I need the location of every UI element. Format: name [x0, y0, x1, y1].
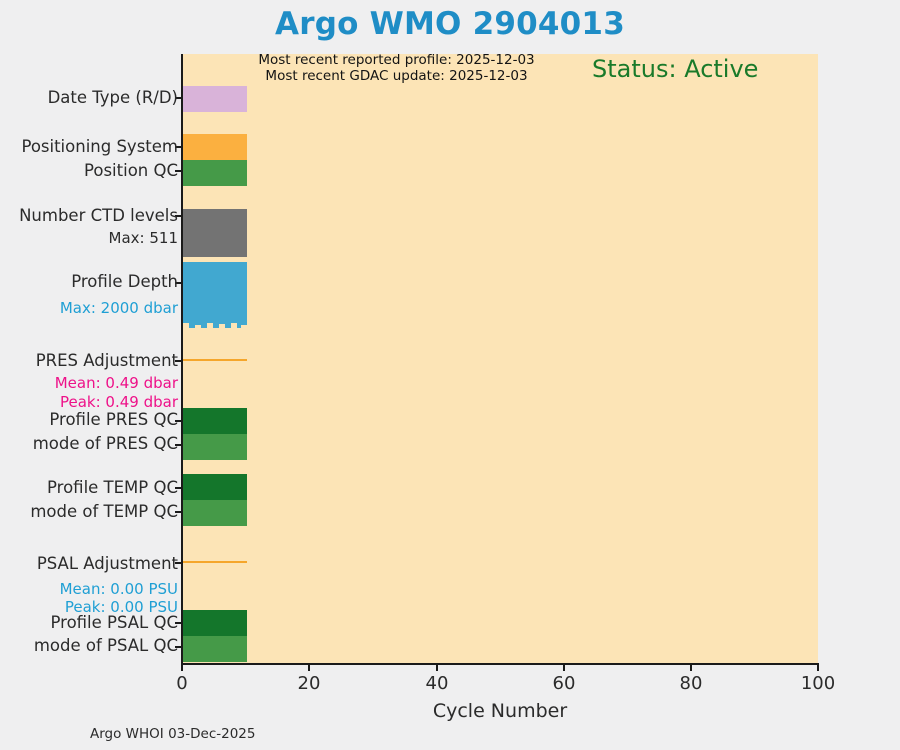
row-label-profile-psal-qc: Profile PSAL QC: [50, 613, 178, 632]
row-label-mode-pres-qc: mode of PRES QC: [33, 434, 178, 453]
x-axis-line: [181, 663, 819, 665]
annotation-most-recent-gdac: Most recent GDAC update: 2025-12-03: [224, 69, 569, 84]
bar-number-ctd-levels: [183, 209, 247, 257]
argo-status-chart: Argo WMO 2904013 Most recent reported pr…: [0, 0, 900, 750]
profile-depth-notch: [207, 323, 213, 328]
x-tick: [308, 664, 310, 671]
x-tick-label: 0: [142, 673, 222, 694]
footer-credit: Argo WHOI 03-Dec-2025: [90, 726, 255, 742]
row-sublabel-max-profile-depth: Max: 2000 dbar: [60, 299, 178, 318]
x-tick-label: 20: [269, 673, 349, 694]
x-tick-label: 40: [397, 673, 477, 694]
row-label-mode-psal-qc: mode of PSAL QC: [34, 636, 178, 655]
bar-positioning-system: [183, 134, 247, 160]
bar-profile-temp-qc: [183, 474, 247, 500]
line-pres-adjustment: [183, 359, 247, 361]
row-label-profile-pres-qc: Profile PRES QC: [49, 410, 178, 429]
bar-profile-depth: [183, 262, 247, 328]
x-tick: [690, 664, 692, 671]
row-label-position-qc: Position QC: [84, 161, 178, 180]
profile-depth-notch: [195, 325, 201, 328]
profile-depth-notch: [241, 325, 247, 328]
x-axis-title: Cycle Number: [182, 700, 818, 722]
x-tick-label: 80: [651, 673, 731, 694]
profile-depth-notch: [231, 323, 237, 328]
row-label-number-ctd-levels: Number CTD levels: [19, 206, 178, 225]
x-tick: [817, 664, 819, 671]
status-badge: Status: Active: [592, 55, 758, 83]
row-label-mode-temp-qc: mode of TEMP QC: [30, 502, 178, 521]
x-tick-label: 60: [524, 673, 604, 694]
bar-mode-pres-qc: [183, 434, 247, 460]
plot-area: [182, 54, 818, 664]
x-tick: [436, 664, 438, 671]
bar-mode-psal-qc: [183, 636, 247, 662]
x-tick: [181, 664, 183, 671]
row-label-profile-temp-qc: Profile TEMP QC: [47, 478, 178, 497]
profile-depth-notch: [183, 323, 189, 328]
bar-profile-pres-qc: [183, 408, 247, 434]
row-label-positioning-system: Positioning System: [21, 137, 178, 156]
page-title: Argo WMO 2904013: [0, 6, 900, 42]
bar-date-type: [183, 86, 247, 112]
row-label-date-type: Date Type (R/D): [48, 88, 178, 107]
row-label-psal-adjustment: PSAL Adjustment: [37, 554, 178, 573]
row-label-pres-adjustment: PRES Adjustment: [36, 351, 178, 370]
row-label-profile-depth: Profile Depth: [71, 272, 178, 291]
row-sublabel-psal-mean: Mean: 0.00 PSU: [60, 580, 178, 599]
bar-profile-psal-qc: [183, 610, 247, 636]
annotation-most-recent-profile: Most recent reported profile: 2025-12-03: [224, 53, 569, 68]
x-tick-label: 100: [778, 673, 858, 694]
row-sublabel-pres-mean: Mean: 0.49 dbar: [55, 374, 178, 393]
row-sublabel-max-ctd-levels: Max: 511: [109, 229, 178, 248]
profile-depth-notch: [219, 324, 225, 328]
line-psal-adjustment: [183, 561, 247, 563]
bar-position-qc: [183, 160, 247, 186]
x-tick: [563, 664, 565, 671]
bar-mode-temp-qc: [183, 500, 247, 526]
